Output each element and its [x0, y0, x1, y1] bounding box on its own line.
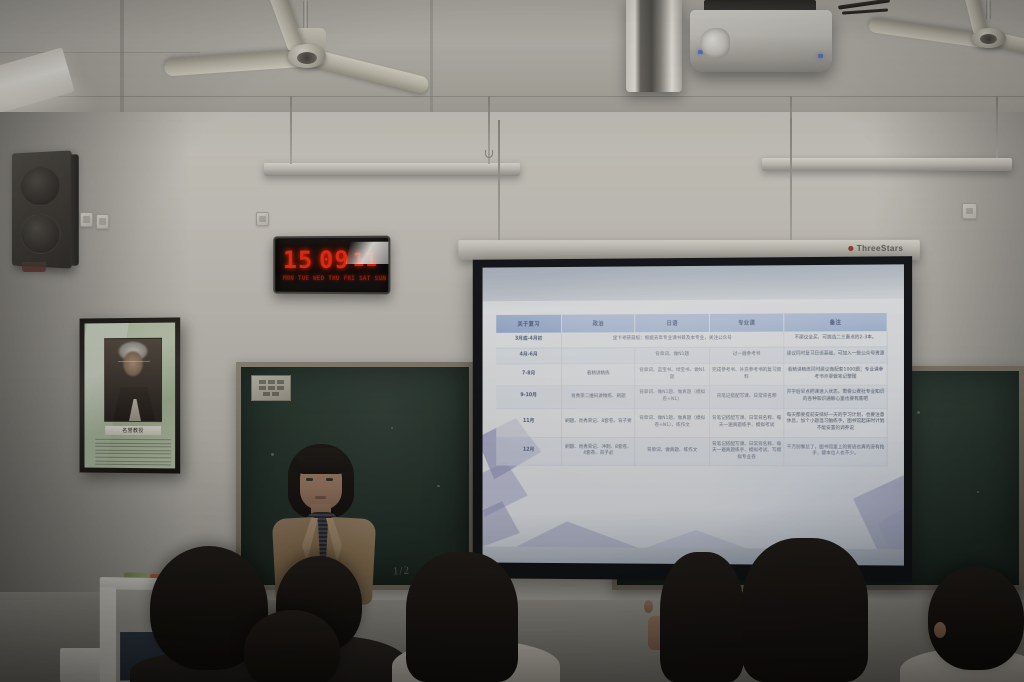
- table-row: 3月底-4月初 定下考研目标：根据去年专业课书目及本专业，关注公众号 不建议全买…: [496, 331, 887, 348]
- table-header-cell: 日语: [635, 314, 709, 332]
- cell-major: 过一遍参考书: [709, 347, 784, 363]
- table-row: 12月 刷题、肖秀荣记、冲刺、8套卷、4套卷、背子必 背单词、做真题、练作文 背…: [496, 437, 887, 467]
- cell-politics: 刷题、肖秀荣记、冲刺、8套卷、4套卷、背子必: [562, 437, 636, 466]
- chalk-mark: [437, 485, 440, 487]
- cell-japanese: 背单词、做N1题、做真题（模拟卷+N1）、练作文: [635, 408, 709, 437]
- table-header-cell: 政治: [562, 314, 636, 332]
- wall-switch-plate[interactable]: [80, 212, 93, 227]
- portrait-caption: 名誉教授: [105, 426, 161, 435]
- screen-hanger: [790, 118, 792, 242]
- table-header-cell: 专业课: [709, 313, 784, 331]
- student-head: [742, 538, 868, 682]
- screen-brand-text: ThreeStars: [857, 244, 904, 253]
- table-body: 3月底-4月初 定下考研目标：根据去年专业课书目及本专业，关注公众号 不建议全买…: [496, 331, 887, 466]
- rail-hook: [485, 150, 493, 158]
- cell-japanese: 背单词、做N1题: [635, 347, 709, 363]
- student-head: [406, 552, 518, 682]
- chalk-writing: 1/2: [393, 565, 411, 578]
- brand-dot-icon: [849, 246, 854, 251]
- wall-speaker: [12, 150, 72, 268]
- cell-merged: 定下考研目标：根据去年专业课书目及本专业，关注公众号: [562, 332, 784, 348]
- presenter-eye: [326, 478, 333, 481]
- chalk-mark: [391, 427, 393, 429]
- ceiling-seam: [430, 0, 433, 118]
- ceiling-seam: [0, 52, 200, 53]
- portrait-glasses: [118, 361, 150, 367]
- presenter-eye: [306, 478, 313, 481]
- ceiling: [0, 0, 1024, 118]
- chalk-mark: [917, 411, 920, 414]
- cell-politics: 肖秀荣二维码讲精练、刷题: [562, 386, 636, 408]
- cell-politics: [562, 348, 636, 364]
- speaker-bracket: [22, 262, 46, 272]
- classroom-photo: 15 09 11 MON TUE WED THU FRI SAT SUN 名誉教…: [0, 0, 1024, 682]
- cell-major: 背笔记搭配写课、日常背名称、每天一遍真题练手、模拟考试、写模拟专业卷: [709, 437, 784, 466]
- speaker-driver: [20, 165, 60, 206]
- table-row: 11月 刷题、肖秀荣记、8套卷、背子要 背单词、做N1题、做真题（模拟卷+N1）…: [496, 408, 887, 437]
- cell-major: 完成参考书、补充参考书的复习资料: [709, 363, 784, 386]
- screen-surface: 关于复习 政治 日语 专业课 备注 3月底-4月初 定下考研目标：根据去年专业课…: [483, 264, 904, 565]
- fan-rod: [986, 0, 991, 20]
- wall-socket-plate[interactable]: [962, 203, 977, 219]
- rail-rod: [290, 96, 292, 164]
- projected-slide: 关于复习 政治 日语 专业课 备注 3月底-4月初 定下考研目标：根据去年专业课…: [483, 299, 904, 550]
- cell-notes: 建议同时复习日语基础，可加入一些公众号资源: [784, 347, 887, 363]
- cell-politics: 刷题、肖秀荣记、8套卷、背子要: [562, 408, 636, 437]
- clock-weekday: TUE: [298, 275, 309, 282]
- speaker-driver: [20, 214, 60, 255]
- portrait-mat: 名誉教授: [84, 323, 175, 469]
- clock-weekday: FRI: [344, 275, 355, 282]
- portrait-photo: [104, 338, 162, 422]
- framed-portrait: 名誉教授: [80, 317, 181, 473]
- slide-schedule-table: 关于复习 政治 日语 专业课 备注 3月底-4月初 定下考研目标：根据去年专业课…: [496, 313, 887, 467]
- projector-lens: [700, 28, 730, 58]
- clock-time-display: 15 09 11: [283, 247, 386, 273]
- student-head: [928, 566, 1024, 670]
- table-head: 关于复习 政治 日语 专业课 备注: [496, 313, 887, 333]
- speaker-side-panel: [71, 154, 79, 266]
- student-ear: [934, 622, 946, 638]
- clock-minutes: 09: [319, 246, 350, 274]
- cell-period: 4月-6月: [496, 348, 561, 364]
- cell-notes: 千万别懈怠了，图书馆里上的要语也真的没有抢手，健本位人也不少。: [784, 437, 887, 466]
- presenter-mouth: [315, 496, 326, 499]
- student-ear: [644, 600, 653, 613]
- table-header-cell: 备注: [784, 313, 887, 332]
- student-head: [244, 610, 340, 682]
- clock-hours: 15: [283, 246, 313, 274]
- cell-period: 12月: [496, 437, 561, 466]
- ceiling-rail-right: [762, 158, 1012, 171]
- clock-weekday: SUN: [375, 275, 387, 282]
- ceiling-seam: [0, 96, 1024, 97]
- cell-japanese: 背单词、蓝宝书、绿宝书、做N1题: [635, 363, 709, 385]
- cell-notes: 开学后早点把课进入状态，需要公费社专业知识的各种知识通解心里也要有底吧: [784, 385, 887, 408]
- cell-politics: 看精讲精练: [562, 364, 636, 386]
- board-placard: [251, 375, 291, 401]
- cell-period: 7-8月: [496, 364, 561, 386]
- portrait-text-lines: [95, 439, 171, 468]
- cell-notes: 每天都要提前安排好一天的学习计划，也要注意休息，加个小题温习触练手，图书馆起床时…: [784, 408, 887, 437]
- table-row: 7-8月 看精讲精练 背单词、蓝宝书、绿宝书、做N1题 完成参考书、补充参考书的…: [496, 363, 887, 386]
- cell-period: 3月底-4月初: [496, 333, 561, 349]
- student-head: [660, 552, 744, 682]
- cell-japanese: 背单词、做N1题、做真题（模拟卷+N1）: [635, 386, 709, 408]
- cell-period: 11月: [496, 408, 561, 437]
- rail-rod: [996, 96, 998, 158]
- clock-weekday: MON: [283, 275, 294, 282]
- presenter-bangs: [298, 456, 344, 469]
- table-header-cell: 关于复习: [496, 315, 561, 333]
- ceiling-rail-left: [264, 163, 520, 176]
- clock-seconds: 11: [353, 249, 378, 271]
- cell-period: 9-10月: [496, 386, 561, 408]
- table-row: 9-10月 肖秀荣二维码讲精练、刷题 背单词、做N1题、做真题（模拟卷+N1） …: [496, 385, 887, 408]
- cell-major: 背笔记搭配写课、日常背名称、每天一遍真题练手、模拟考试: [709, 408, 784, 437]
- screen-brand-label: ThreeStars: [849, 244, 904, 253]
- wall-switch-plate[interactable]: [96, 214, 109, 229]
- fan-hub-ring: [980, 34, 997, 44]
- clock-weekday-row: MON TUE WED THU FRI SAT SUN: [283, 275, 386, 282]
- screen-hanger: [498, 120, 500, 244]
- projector-status-led: [818, 54, 823, 58]
- ceiling-air-duct: [626, 0, 682, 92]
- digital-wall-clock: 15 09 11 MON TUE WED THU FRI SAT SUN: [273, 236, 390, 295]
- clock-weekday: THU: [328, 275, 339, 282]
- projection-screen: 关于复习 政治 日语 专业课 备注 3月底-4月初 定下考研目标：根据去年专业课…: [473, 256, 912, 582]
- fan-hub-ring: [297, 52, 317, 64]
- clock-weekday: SAT: [359, 275, 371, 282]
- ceiling-seam: [120, 0, 124, 118]
- wall-socket-plate[interactable]: [256, 212, 269, 226]
- clock-weekday: WED: [313, 275, 324, 282]
- table-row: 4月-6月 背单词、做N1题 过一遍参考书 建议同时复习日语基础，可加入一些公众…: [496, 347, 887, 364]
- cell-japanese: 背单词、做真题、练作文: [635, 437, 709, 466]
- cell-notes: 看精讲精练同时建议做配套1000题；专业课参考书亦要做笔记整理: [784, 363, 887, 386]
- podium-side: [100, 587, 116, 682]
- cell-major: 背笔记搭配写课、日常背名称: [709, 386, 784, 408]
- chalk-mark: [977, 491, 979, 493]
- cell-notes: 不建议全买，可挑选二三重点的2-3本。: [784, 331, 887, 347]
- slide-decoration-bottom: [488, 515, 786, 549]
- table-header-row: 关于复习 政治 日语 专业课 备注: [496, 313, 887, 333]
